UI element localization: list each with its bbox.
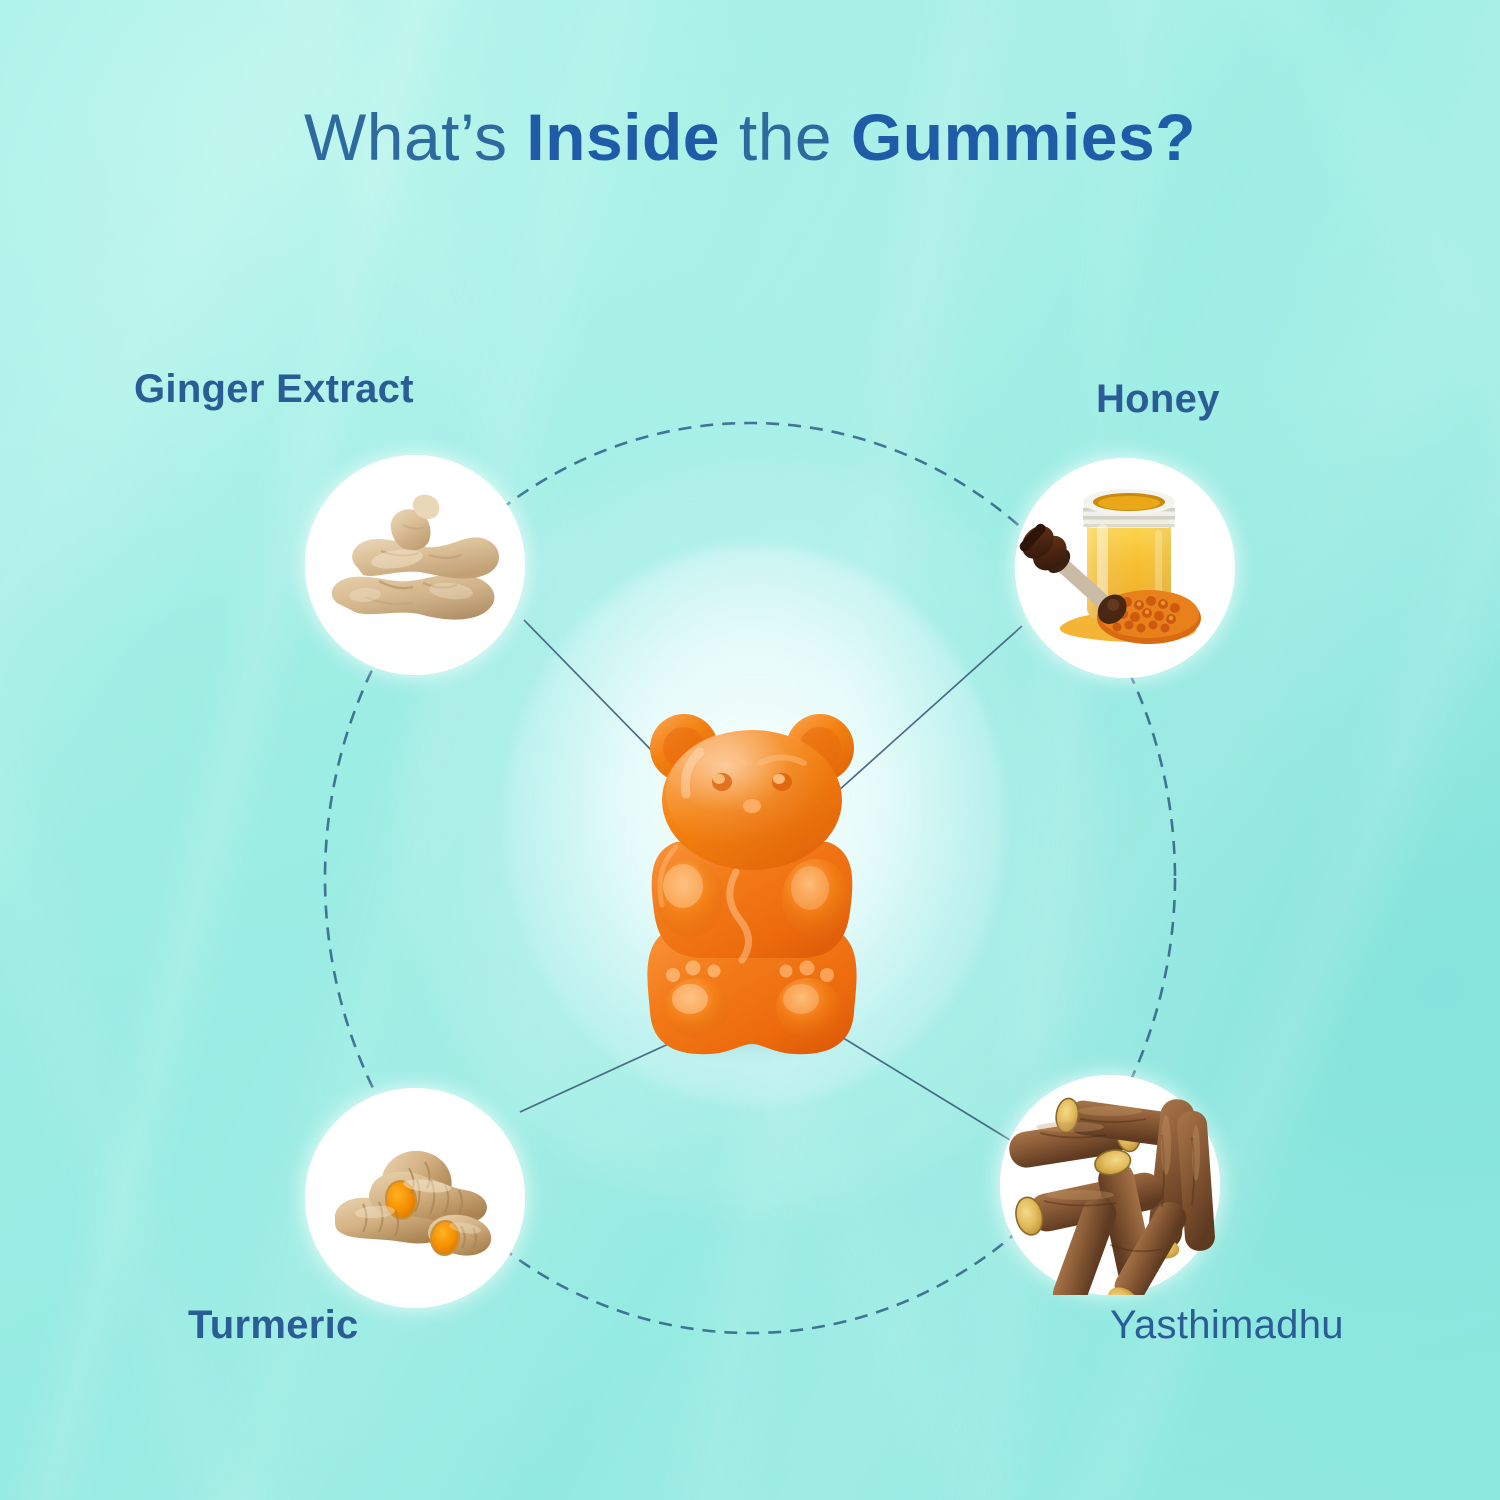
ginger-root-icon bbox=[305, 455, 525, 675]
ingredient-bubble-honey[interactable] bbox=[1015, 458, 1235, 678]
connector-line-yasthimadhu bbox=[840, 1036, 1010, 1140]
gummy-bear-icon bbox=[644, 714, 860, 1066]
diagram-vectors bbox=[0, 0, 1500, 1500]
ingredient-bubble-turmeric[interactable] bbox=[305, 1088, 525, 1308]
ingredient-label-honey: Honey bbox=[1096, 377, 1220, 422]
ingredient-bubble-yasthimadhu[interactable] bbox=[1000, 1075, 1220, 1295]
ingredient-label-yasthimadhu: Yasthimadhu bbox=[1110, 1303, 1344, 1348]
ingredient-label-turmeric: Turmeric bbox=[188, 1303, 359, 1348]
honey-jar-icon bbox=[1015, 458, 1235, 678]
connector-line-honey bbox=[828, 626, 1022, 800]
ingredient-bubble-ginger[interactable] bbox=[305, 455, 525, 675]
ingredient-label-ginger: Ginger Extract bbox=[134, 367, 414, 412]
infographic-canvas: What’s Inside the Gummies? bbox=[0, 0, 1500, 1500]
turmeric-root-icon bbox=[305, 1088, 525, 1308]
licorice-root-icon bbox=[1000, 1075, 1220, 1295]
